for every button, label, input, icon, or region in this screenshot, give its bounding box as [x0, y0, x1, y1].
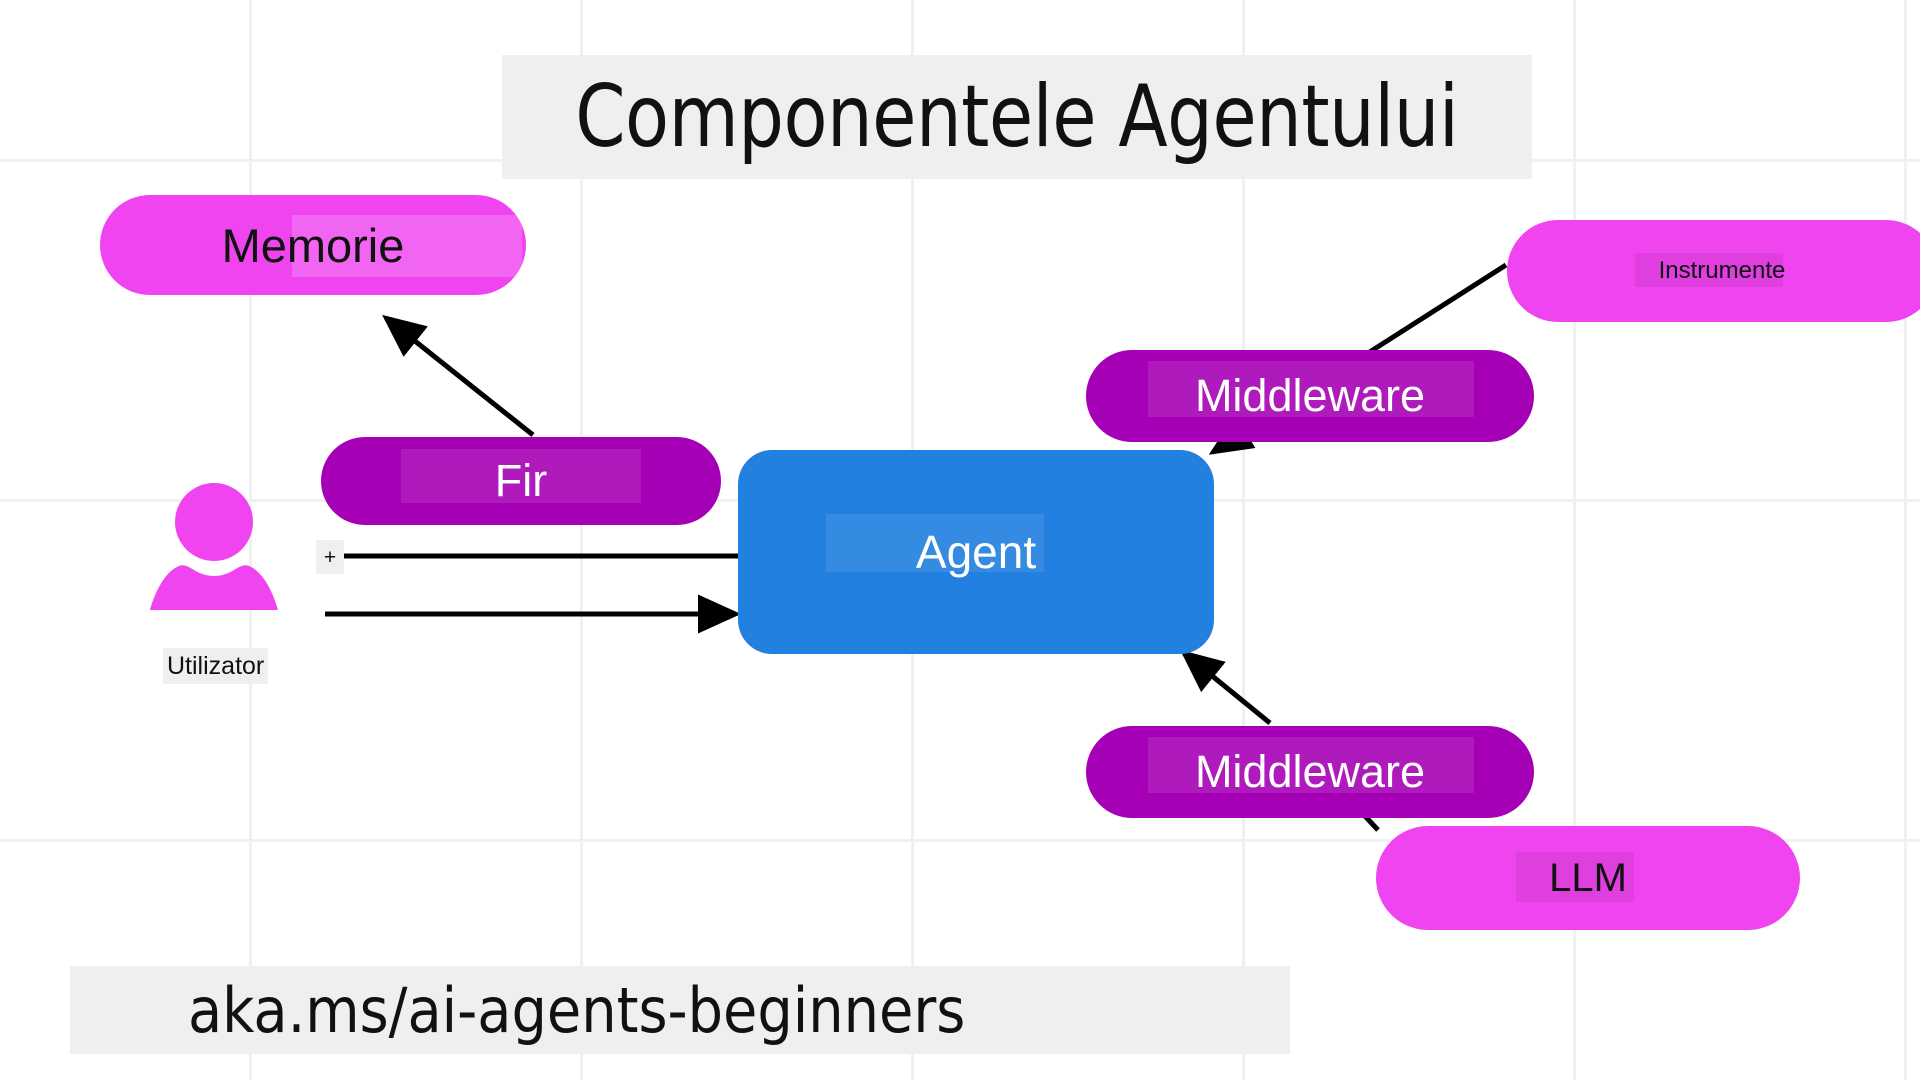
node-memorie[interactable]: Memorie	[100, 195, 526, 295]
node-fir[interactable]: Fir	[321, 437, 721, 525]
footer-url-text: aka.ms/ai-agents-beginners	[70, 974, 965, 1047]
node-middleware-top[interactable]: Middleware	[1086, 350, 1534, 442]
user-avatar-icon[interactable]	[145, 482, 283, 610]
node-middleware-bottom[interactable]: Middleware	[1086, 726, 1534, 818]
node-instrumente[interactable]: Instrumente	[1507, 220, 1920, 322]
edge-middleware-bottom-to-agent	[1184, 653, 1270, 723]
node-fir-label: Fir	[495, 455, 547, 507]
node-agent-label: Agent	[916, 525, 1036, 579]
node-middleware-top-label: Middleware	[1195, 370, 1425, 422]
diagram-title: Componentele Agentului	[502, 55, 1532, 179]
node-llm[interactable]: LLM	[1376, 826, 1800, 930]
node-instrumente-label: Instrumente	[1659, 257, 1786, 285]
node-middleware-bottom-label: Middleware	[1195, 746, 1425, 798]
footer-url[interactable]: aka.ms/ai-agents-beginners	[70, 966, 1290, 1054]
plus-marker: +	[316, 540, 344, 574]
user-label-text: Utilizator	[167, 652, 264, 681]
node-llm-label: LLM	[1549, 856, 1627, 901]
diagram-title-text: Componentele Agentului	[575, 67, 1458, 167]
user-label: Utilizator	[163, 648, 268, 684]
edge-fir-to-memorie	[386, 318, 533, 435]
node-memorie-label: Memorie	[222, 218, 405, 273]
node-agent[interactable]: Agent	[738, 450, 1214, 654]
diagram-canvas: Componentele Agentului Memorie Instrumen…	[0, 0, 1920, 1080]
